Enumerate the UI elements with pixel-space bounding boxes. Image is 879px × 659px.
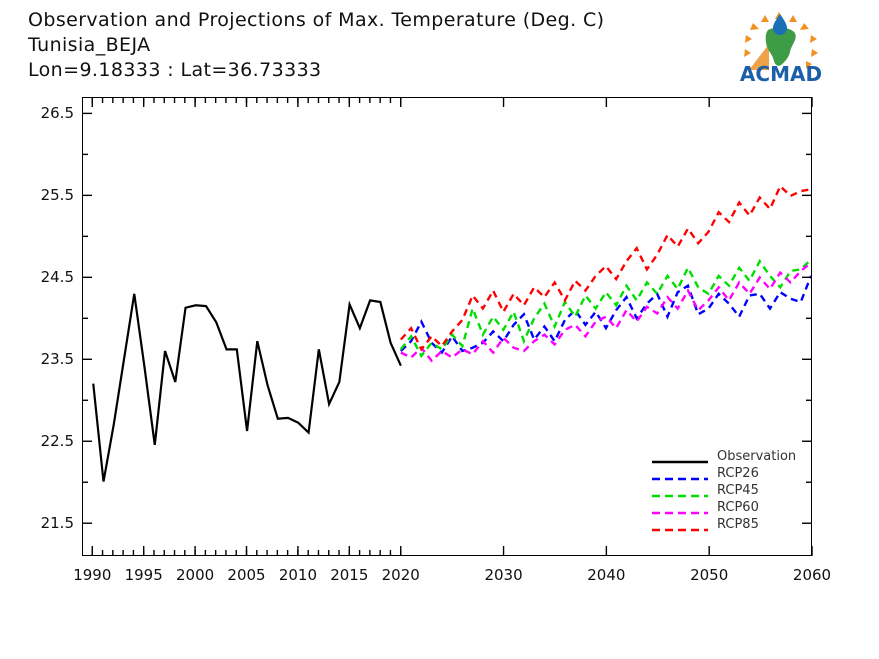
legend-item: RCP26 — [652, 465, 822, 482]
y-axis-labels: 21.522.523.524.525.526.5 — [0, 0, 74, 659]
legend-swatch — [652, 520, 708, 530]
legend: ObservationRCP26RCP45RCP60RCP85 — [652, 448, 822, 533]
y-axis-tick-label: 25.5 — [41, 186, 74, 204]
legend-item: RCP60 — [652, 499, 822, 516]
legend-label: RCP85 — [717, 517, 759, 532]
legend-label: Observation — [717, 449, 796, 464]
y-axis-tick-label: 23.5 — [41, 350, 74, 368]
x-axis-tick-label: 2060 — [793, 566, 831, 584]
x-axis-tick-label: 1990 — [73, 566, 111, 584]
axis-ticks — [0, 0, 879, 659]
y-axis-tick-label: 22.5 — [41, 432, 74, 450]
x-axis-tick-label: 2010 — [279, 566, 317, 584]
y-axis-tick-label: 21.5 — [41, 514, 74, 532]
x-axis-labels: 1990199520002005201020152020203020402050… — [0, 566, 879, 592]
legend-swatch — [652, 452, 708, 462]
legend-swatch — [652, 486, 708, 496]
x-axis-tick-label: 2030 — [484, 566, 522, 584]
legend-label: RCP45 — [717, 483, 759, 498]
legend-label: RCP26 — [717, 466, 759, 481]
x-axis-tick-label: 2050 — [690, 566, 728, 584]
x-axis-tick-label: 1995 — [125, 566, 163, 584]
legend-item: RCP45 — [652, 482, 822, 499]
x-axis-tick-label: 2000 — [176, 566, 214, 584]
legend-item: Observation — [652, 448, 822, 465]
chart-page: Observation and Projections of Max. Temp… — [0, 0, 879, 659]
x-axis-tick-label: 2015 — [330, 566, 368, 584]
y-axis-tick-label: 24.5 — [41, 268, 74, 286]
x-axis-tick-label: 2040 — [587, 566, 625, 584]
legend-label: RCP60 — [717, 500, 759, 515]
legend-item: RCP85 — [652, 516, 822, 533]
legend-swatch — [652, 469, 708, 479]
x-axis-tick-label: 2020 — [382, 566, 420, 584]
x-axis-tick-label: 2005 — [227, 566, 265, 584]
legend-swatch — [652, 503, 708, 513]
y-axis-tick-label: 26.5 — [41, 104, 74, 122]
